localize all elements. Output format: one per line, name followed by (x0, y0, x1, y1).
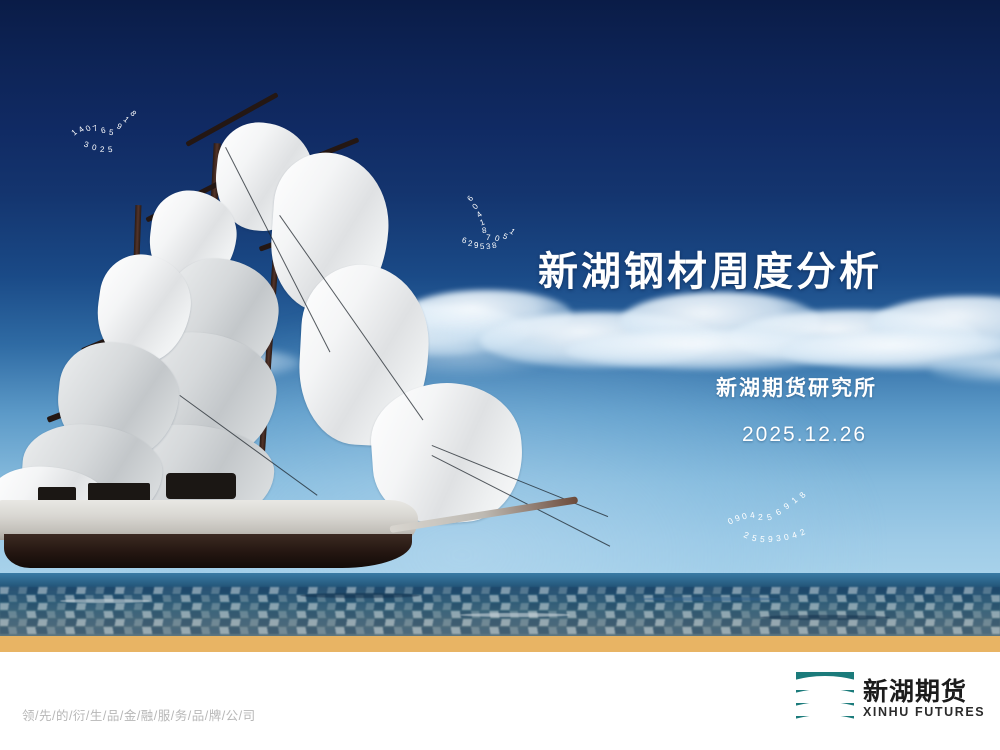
ship-deck-structure (166, 473, 236, 499)
sea-horizon-strip (0, 573, 1000, 587)
page-title: 新湖钢材周度分析 (538, 252, 958, 292)
numeric-bird-decor-3: 0 9 0 4 2 5 6 9 1 8 2 5 5 9 3 0 4 2 (726, 482, 856, 548)
slide-date: 2025.12.26 (742, 424, 972, 445)
title-slide: 1 4 0 7 6 5 9 1 8 3 0 2 5 6 0 4 1 8 7 0 … (0, 0, 1000, 750)
water-chop (0, 627, 1000, 634)
ship-hull (0, 500, 438, 570)
wave-trough (760, 615, 890, 620)
water-chop (0, 619, 1000, 626)
wave-crest (460, 613, 570, 617)
numeric-bird-decor-2: 6 0 4 1 8 7 0 5 1 6 2 9 5 3 8 (446, 186, 556, 250)
logo-name-en: XINHU FUTURES (863, 706, 985, 719)
water-chop (0, 595, 1000, 602)
water-chop (0, 587, 1000, 594)
xinhu-wave-logo-icon (796, 672, 854, 726)
company-logo: 新湖期货 XINHU FUTURES (796, 672, 985, 726)
company-tagline: 领/先/的/衍/生/品/金/融/服/务/品/牌/公/司 (22, 705, 256, 724)
sea-water (0, 573, 1000, 636)
sailing-ship-illustration (0, 95, 640, 585)
gold-divider-band (0, 636, 1000, 652)
numeric-bird-decor-1: 1 4 0 7 6 5 9 1 8 3 0 2 5 (62, 104, 174, 166)
logo-name-cn: 新湖期货 (863, 679, 985, 705)
wave-crest (640, 597, 780, 601)
logo-wordmark: 新湖期货 XINHU FUTURES (863, 679, 985, 719)
wave-crest (60, 599, 150, 603)
wave-trough (300, 593, 420, 598)
hull-below-waterline (4, 534, 412, 568)
water-chop (0, 603, 1000, 610)
slide-subtitle: 新湖期货研究所 (716, 378, 976, 399)
hero-photo: 1 4 0 7 6 5 9 1 8 3 0 2 5 6 0 4 1 8 7 0 … (0, 0, 1000, 636)
